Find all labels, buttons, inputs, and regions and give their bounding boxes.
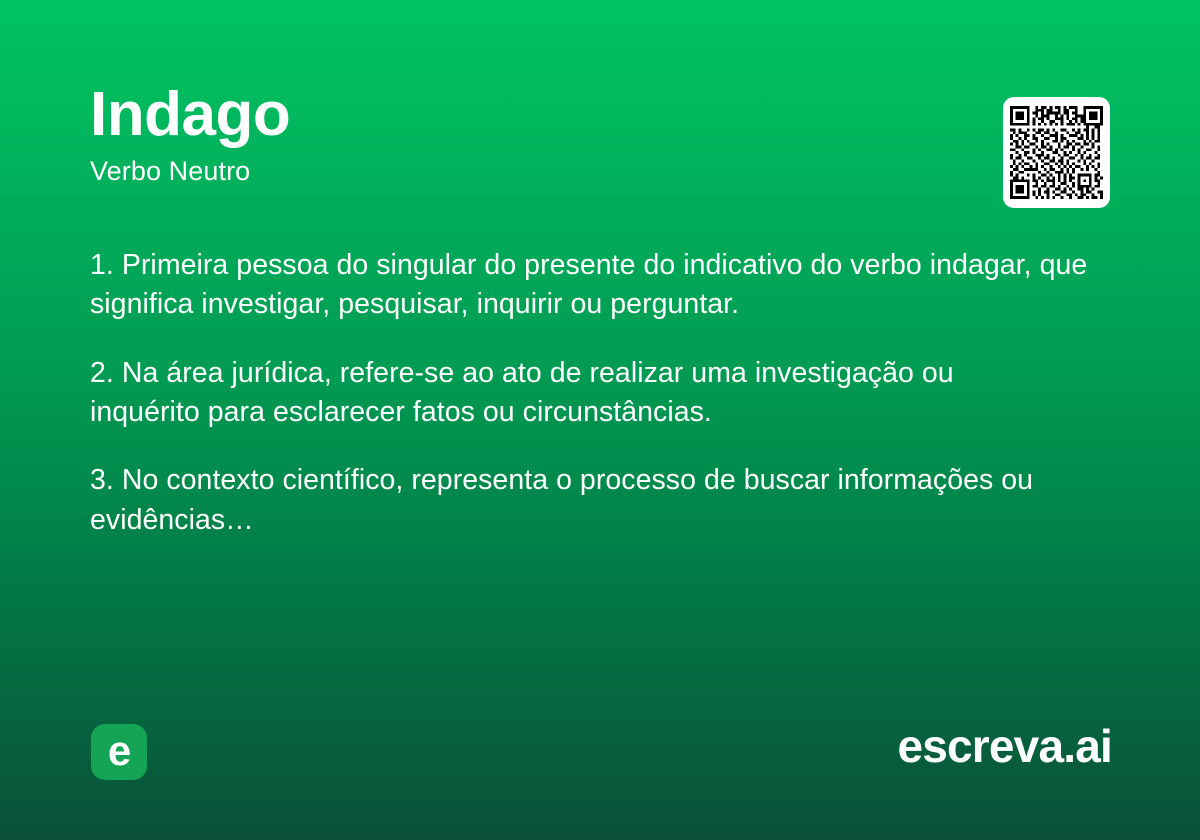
definition-item: 3. No contexto científico, representa o … (90, 461, 1035, 540)
definition-item: 1. Primeira pessoa do singular do presen… (90, 246, 1110, 325)
qr-code-icon (1010, 103, 1103, 202)
grammatical-class-label: Verbo Neutro (90, 158, 1110, 185)
definition-list: 1. Primeira pessoa do singular do presen… (90, 246, 1110, 540)
card-header: Indago Verbo Neutro (90, 84, 1110, 185)
brand-wordmark: escreva.ai (897, 723, 1112, 769)
qr-code-panel[interactable] (1003, 97, 1110, 208)
dictionary-card: Indago Verbo Neutro (0, 0, 1200, 840)
brand-logo-badge: e (91, 724, 147, 780)
page-title: Indago (90, 84, 1110, 146)
definition-item: 2. Na área jurídica, refere-se ao ato de… (90, 354, 970, 433)
brand-logo-letter: e (108, 730, 130, 772)
